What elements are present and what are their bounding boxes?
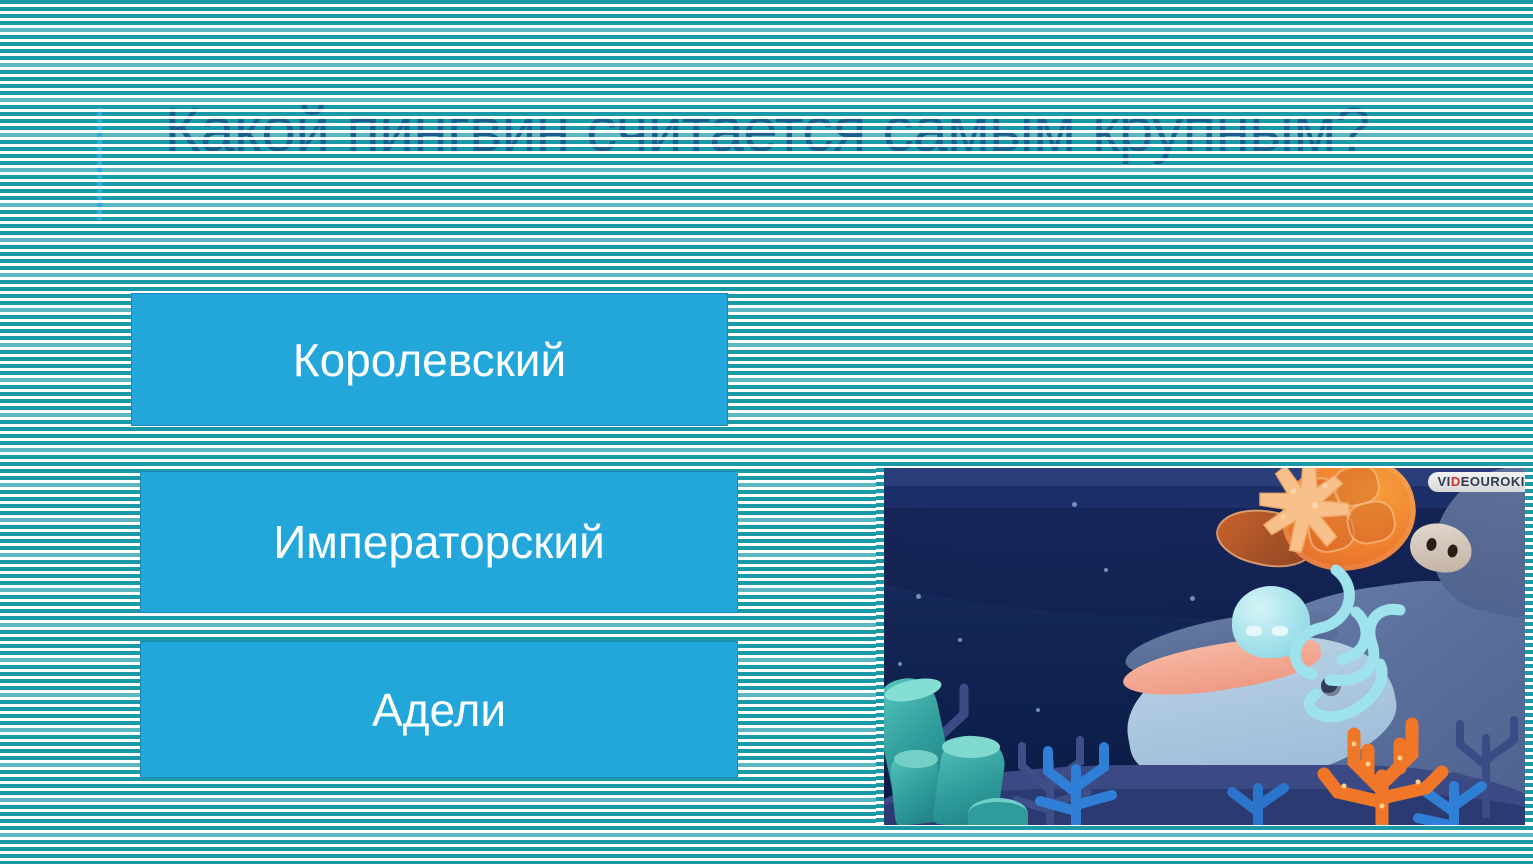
- bubble-icon: [958, 638, 962, 642]
- underwater-illustration: VIDEOUROKI.: [876, 468, 1533, 825]
- orange-coral-icon: [1308, 706, 1458, 825]
- answer-option-3-label: Адели: [372, 683, 506, 737]
- page-title: Какой пингвин считается самым крупным?: [117, 96, 1417, 165]
- answer-option-3[interactable]: Адели: [140, 641, 738, 778]
- bubble-icon: [916, 594, 921, 599]
- answer-option-1-label: Королевский: [293, 333, 566, 387]
- sponge-coral-small: [968, 798, 1028, 825]
- cream-coral-icon: [1254, 468, 1372, 566]
- bubble-icon: [1072, 502, 1077, 507]
- quiz-slide: Какой пингвин считается самым крупным? К…: [0, 0, 1533, 864]
- blue-seaweed: [1016, 733, 1156, 825]
- watermark-badge: VIDEOUROKI.: [1428, 472, 1533, 492]
- watermark-suffix: EOUROKI.: [1461, 474, 1529, 489]
- sponge-coral-rim: [942, 736, 1000, 758]
- octopus-eye: [1246, 626, 1262, 636]
- bubble-icon: [1190, 596, 1195, 601]
- watermark-prefix: VI: [1438, 474, 1451, 489]
- bubble-icon: [1104, 568, 1108, 572]
- answer-option-2[interactable]: Императорский: [140, 471, 738, 613]
- watermark-accent: D: [1451, 474, 1461, 489]
- octopus-tentacles: [1276, 548, 1446, 728]
- answer-option-1[interactable]: Королевский: [131, 293, 728, 426]
- answer-option-2-label: Императорский: [273, 515, 605, 569]
- title-accent-bar: [97, 108, 102, 220]
- bubble-icon: [1036, 708, 1040, 712]
- turtle-eye: [1446, 544, 1458, 559]
- sponge-coral-rim: [894, 750, 938, 768]
- title-block: Какой пингвин считается самым крупным?: [97, 96, 1427, 165]
